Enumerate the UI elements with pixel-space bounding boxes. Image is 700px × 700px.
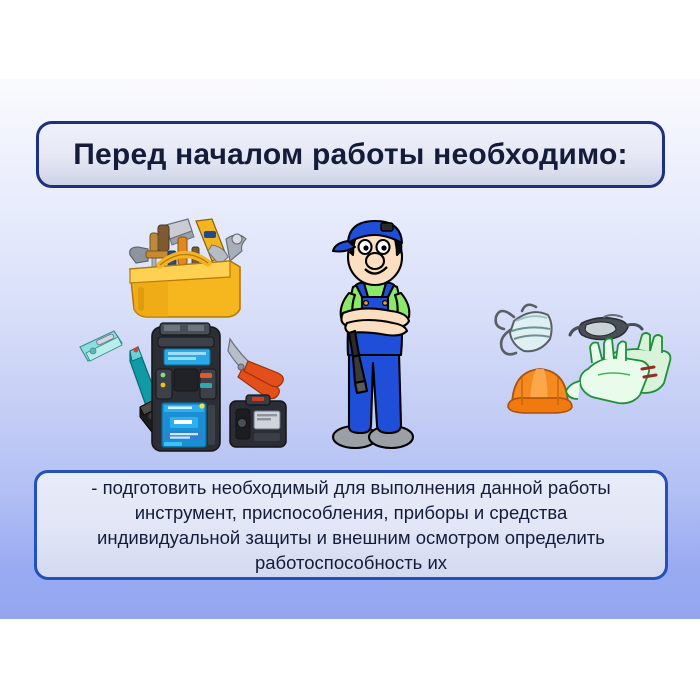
fusion-splicer-icon — [152, 323, 220, 451]
title-banner: Перед началом работы необходимо: — [36, 121, 665, 188]
respirator-mask-icon — [496, 305, 552, 355]
caption-line: - подготовить необходимый для выполнения… — [91, 475, 610, 500]
toolbox-body-icon — [130, 254, 240, 317]
wire-stripper-pliers-icon — [228, 339, 283, 399]
fiber-stripper-tool-icon — [80, 331, 122, 361]
page-title: Перед началом работы необходимо: — [73, 138, 627, 172]
fiber-cleaver-icon — [230, 395, 286, 447]
hard-hat-icon — [508, 369, 572, 413]
caption-line: работоспособность их — [255, 550, 447, 575]
cartoon-worker-icon — [333, 221, 413, 448]
safety-goggles-icon — [570, 315, 642, 340]
illustration-stage — [0, 199, 700, 469]
worker-illustration — [315, 213, 435, 453]
caption-panel: - подготовить необходимый для выполнения… — [34, 470, 668, 580]
fiber-gear-illustration — [78, 323, 293, 458]
protective-gloves-icon — [566, 333, 670, 403]
ppe-illustration — [492, 295, 672, 415]
slide-canvas: Перед началом работы необходимо: — [0, 79, 700, 619]
toolbox-illustration — [108, 217, 268, 327]
caption-line: инструмент, приспособления, приборы и ср… — [135, 500, 568, 525]
caption-line: индивидуальной защиты и внешним осмотром… — [97, 525, 605, 550]
